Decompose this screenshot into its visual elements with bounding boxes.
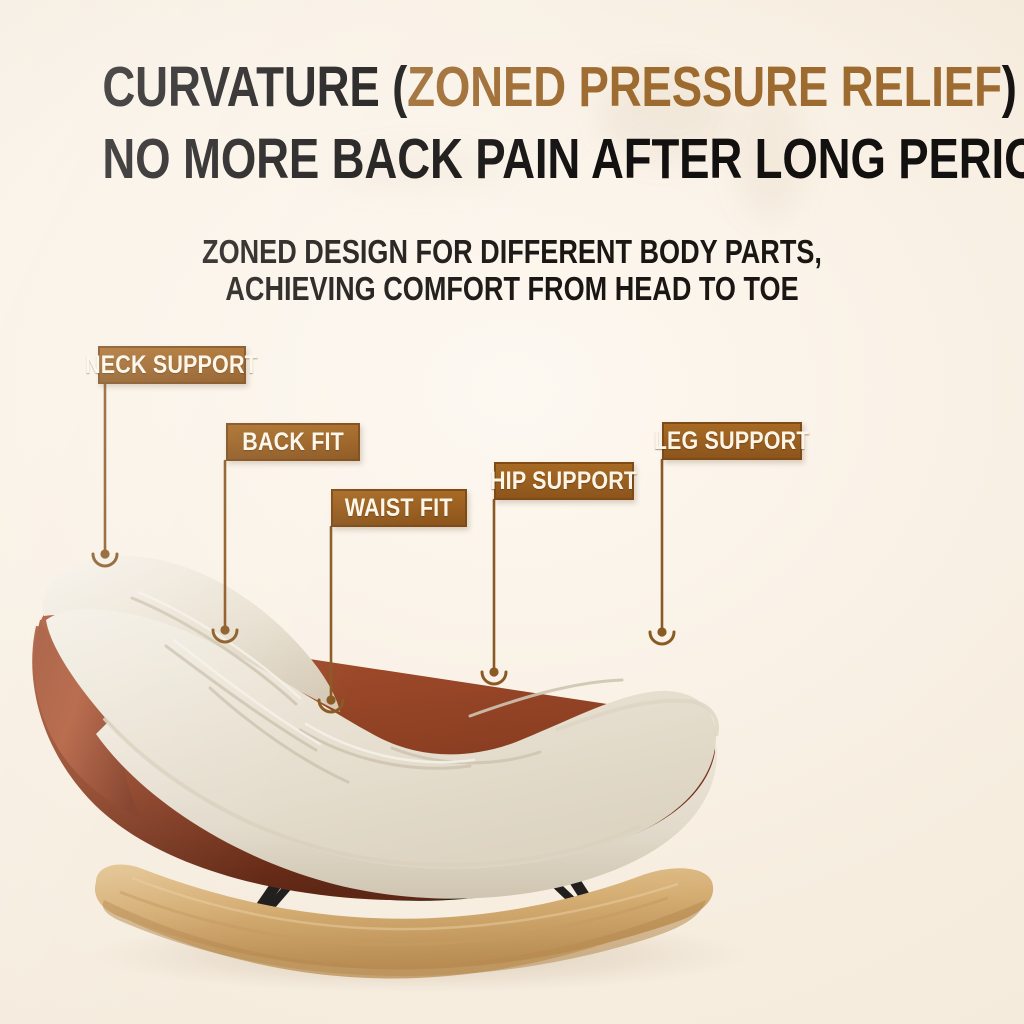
callout-box-waist-fit[interactable]: WAIST FIT <box>331 489 467 527</box>
callout-box-neck-support[interactable]: NECK SUPPORT <box>98 346 246 384</box>
callout-label-hip-support: HIP SUPPORT <box>490 469 637 494</box>
headline-line-2: NO MORE BACK PAIN AFTER LONG PERIODS <box>102 130 921 189</box>
callout-label-back-fit: BACK FIT <box>242 430 344 455</box>
subheading-block: ZONED DESIGN FOR DIFFERENT BODY PARTS, A… <box>0 234 1024 308</box>
rocking-chair-illustration <box>0 430 1024 1024</box>
subheading-line-1: ZONED DESIGN FOR DIFFERENT BODY PARTS, <box>92 234 932 271</box>
headline-text-prefix: CURVATURE ( <box>102 55 407 119</box>
infographic-poster: CURVATURE (ZONED PRESSURE RELIEF) DESIGN… <box>0 0 1024 1024</box>
headline-text-suffix: ) DESIGN <box>1002 55 1024 119</box>
callout-box-leg-support[interactable]: LEG SUPPORT <box>662 422 802 460</box>
callout-box-hip-support[interactable]: HIP SUPPORT <box>494 462 634 500</box>
headline-line-1: CURVATURE (ZONED PRESSURE RELIEF) DESIGN <box>102 58 921 117</box>
callout-label-neck-support: NECK SUPPORT <box>86 353 259 378</box>
callout-label-waist-fit: WAIST FIT <box>345 496 453 521</box>
callout-label-leg-support: LEG SUPPORT <box>654 429 810 454</box>
callout-box-back-fit[interactable]: BACK FIT <box>226 423 360 461</box>
headline-text-accent: ZONED PRESSURE RELIEF <box>407 55 1002 119</box>
subheading-line-2: ACHIEVING COMFORT FROM HEAD TO TOE <box>92 271 932 308</box>
headline-block: CURVATURE (ZONED PRESSURE RELIEF) DESIGN… <box>0 58 1024 188</box>
